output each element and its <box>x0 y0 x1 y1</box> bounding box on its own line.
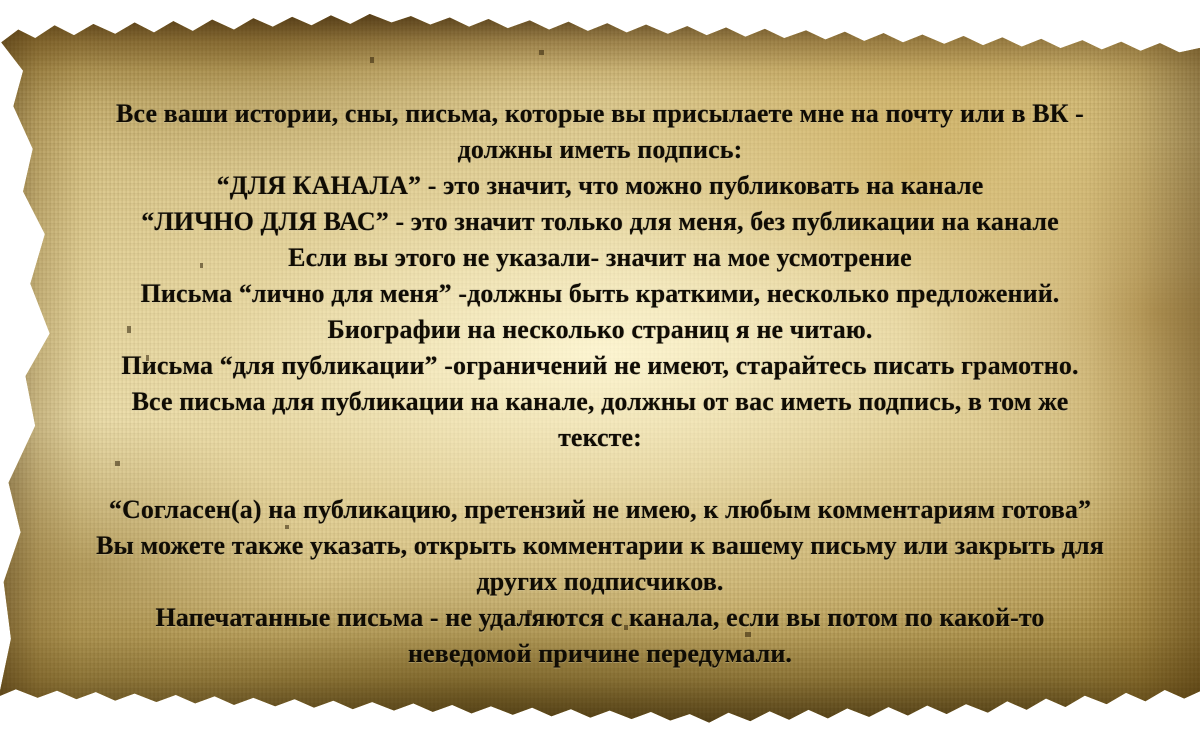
image-canvas: Все ваши истории, сны, письма, которые в… <box>0 0 1200 750</box>
paper-fleck <box>527 610 532 616</box>
paper-fleck <box>624 625 628 630</box>
edge-shadow-right <box>1056 14 1200 724</box>
paper-fleck <box>370 57 374 63</box>
paper-fleck <box>115 461 120 466</box>
paper-fleck <box>200 263 203 268</box>
paper-fleck <box>146 355 149 361</box>
parchment-sheet <box>0 14 1200 724</box>
paper-fleck <box>285 525 289 529</box>
paper-fleck <box>539 50 544 55</box>
paper-fleck <box>127 326 131 333</box>
torn-edge-top <box>0 14 1200 94</box>
paper-fleck <box>745 632 751 637</box>
torn-edge-bottom <box>0 604 1200 724</box>
torn-edge-left <box>0 14 104 724</box>
